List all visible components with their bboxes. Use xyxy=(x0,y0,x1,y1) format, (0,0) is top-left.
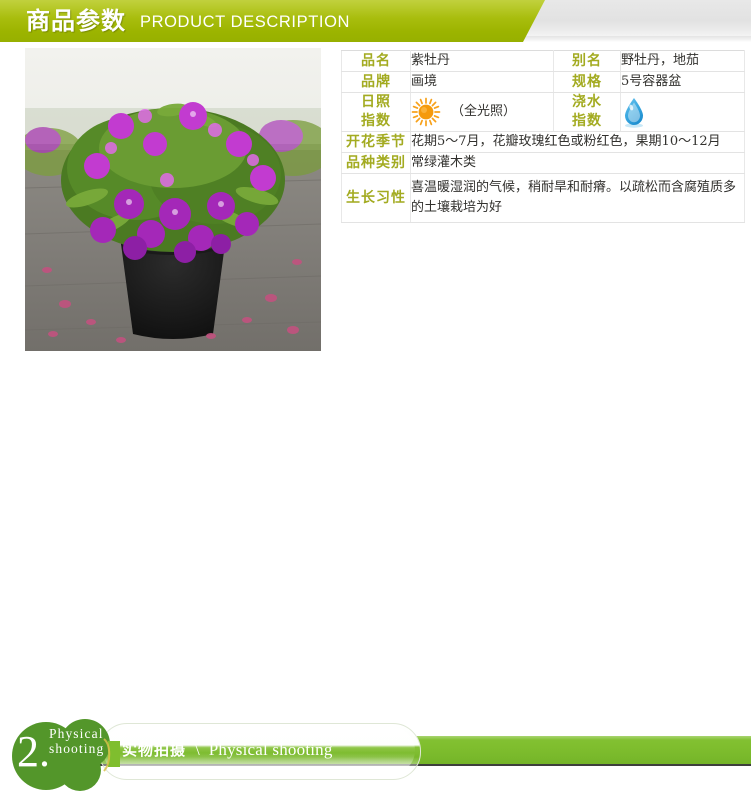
spec-label-guige: 规格 xyxy=(554,72,621,93)
page-title-cn: 商品参数 xyxy=(26,6,126,36)
table-row: 品牌 画境 规格 5号容器盆 xyxy=(342,72,745,93)
spec-value-rizhao-text: （全光照） xyxy=(451,102,516,122)
spec-value-pinpai: 画境 xyxy=(411,72,554,93)
spec-value-kaihuajijie: 花期5～7月，花瓣玫瑰红色或粉红色，果期10～12月 xyxy=(411,132,745,153)
spec-value-bieming: 野牡丹，地茄 xyxy=(621,51,745,72)
footer-badge-en-line1: Physical xyxy=(49,726,104,741)
product-photo-illustration xyxy=(25,48,321,351)
spec-label-bieming: 别名 xyxy=(554,51,621,72)
section-footer: 2. Physical shooting 实物拍摄 \ Physical sho… xyxy=(0,355,751,437)
footer-bar-text-en: Physical shooting xyxy=(209,739,333,761)
footer-badge-number: 2. xyxy=(17,730,50,774)
spec-label-pinpai: 品牌 xyxy=(342,72,411,93)
spec-label-line2: 指数 xyxy=(554,112,620,131)
footer-bar-text: 实物拍摄 \ Physical shooting xyxy=(122,739,333,761)
spec-value-jiaoshui xyxy=(621,93,745,132)
footer-badge-en: Physical shooting xyxy=(49,726,104,756)
table-row: 生长习性 喜温暖湿润的气候，稍耐旱和耐瘠。以疏松而含腐殖质多的土壤栽培为好 xyxy=(342,174,745,223)
sun-icon xyxy=(411,97,441,127)
spec-label-line1: 日照 xyxy=(342,93,410,112)
spec-value-rizhao: （全光照） xyxy=(411,93,554,132)
table-row: 日照 指数 xyxy=(342,93,745,132)
footer-bar-slash: \ xyxy=(195,739,200,761)
spec-value-shengzhangxixing: 喜温暖湿润的气候，稍耐旱和耐瘠。以疏松而含腐殖质多的土壤栽培为好 xyxy=(411,174,745,223)
spec-label-shengzhangxixing: 生长习性 xyxy=(342,174,411,223)
water-drop-icon xyxy=(621,115,647,132)
product-photo xyxy=(25,48,321,351)
product-spec-table: 品名 紫牡丹 别名 野牡丹，地茄 品牌 画境 规格 5号容器盆 日照 指数 xyxy=(341,50,745,223)
table-row: 品名 紫牡丹 别名 野牡丹，地茄 xyxy=(342,51,745,72)
spec-label-pinming: 品名 xyxy=(342,51,411,72)
table-row: 品种类别 常绿灌木类 xyxy=(342,153,745,174)
spec-label-pinzhongleibie: 品种类别 xyxy=(342,153,411,174)
spec-label-line2: 指数 xyxy=(342,112,410,131)
page-title-en: PRODUCT DESCRIPTION xyxy=(140,12,350,32)
spec-label-rizhao-zhishu: 日照 指数 xyxy=(342,93,411,132)
spec-value-guige: 5号容器盆 xyxy=(621,72,745,93)
footer-bar-text-cn: 实物拍摄 xyxy=(122,739,186,761)
spec-label-jiaoshui-zhishu: 浇水 指数 xyxy=(554,93,621,132)
product-description-page: 商品参数 PRODUCT DESCRIPTION xyxy=(0,0,751,437)
table-row: 开花季节 花期5～7月，花瓣玫瑰红色或粉红色，果期10～12月 xyxy=(342,132,745,153)
spec-value-pinzhongleibie: 常绿灌木类 xyxy=(411,153,745,174)
spec-label-kaihuajijie: 开花季节 xyxy=(342,132,411,153)
footer-badge-en-line2: shooting xyxy=(49,741,104,756)
spec-label-line1: 浇水 xyxy=(554,93,620,112)
spec-value-pinming: 紫牡丹 xyxy=(411,51,554,72)
section-header: 商品参数 PRODUCT DESCRIPTION xyxy=(0,0,751,44)
